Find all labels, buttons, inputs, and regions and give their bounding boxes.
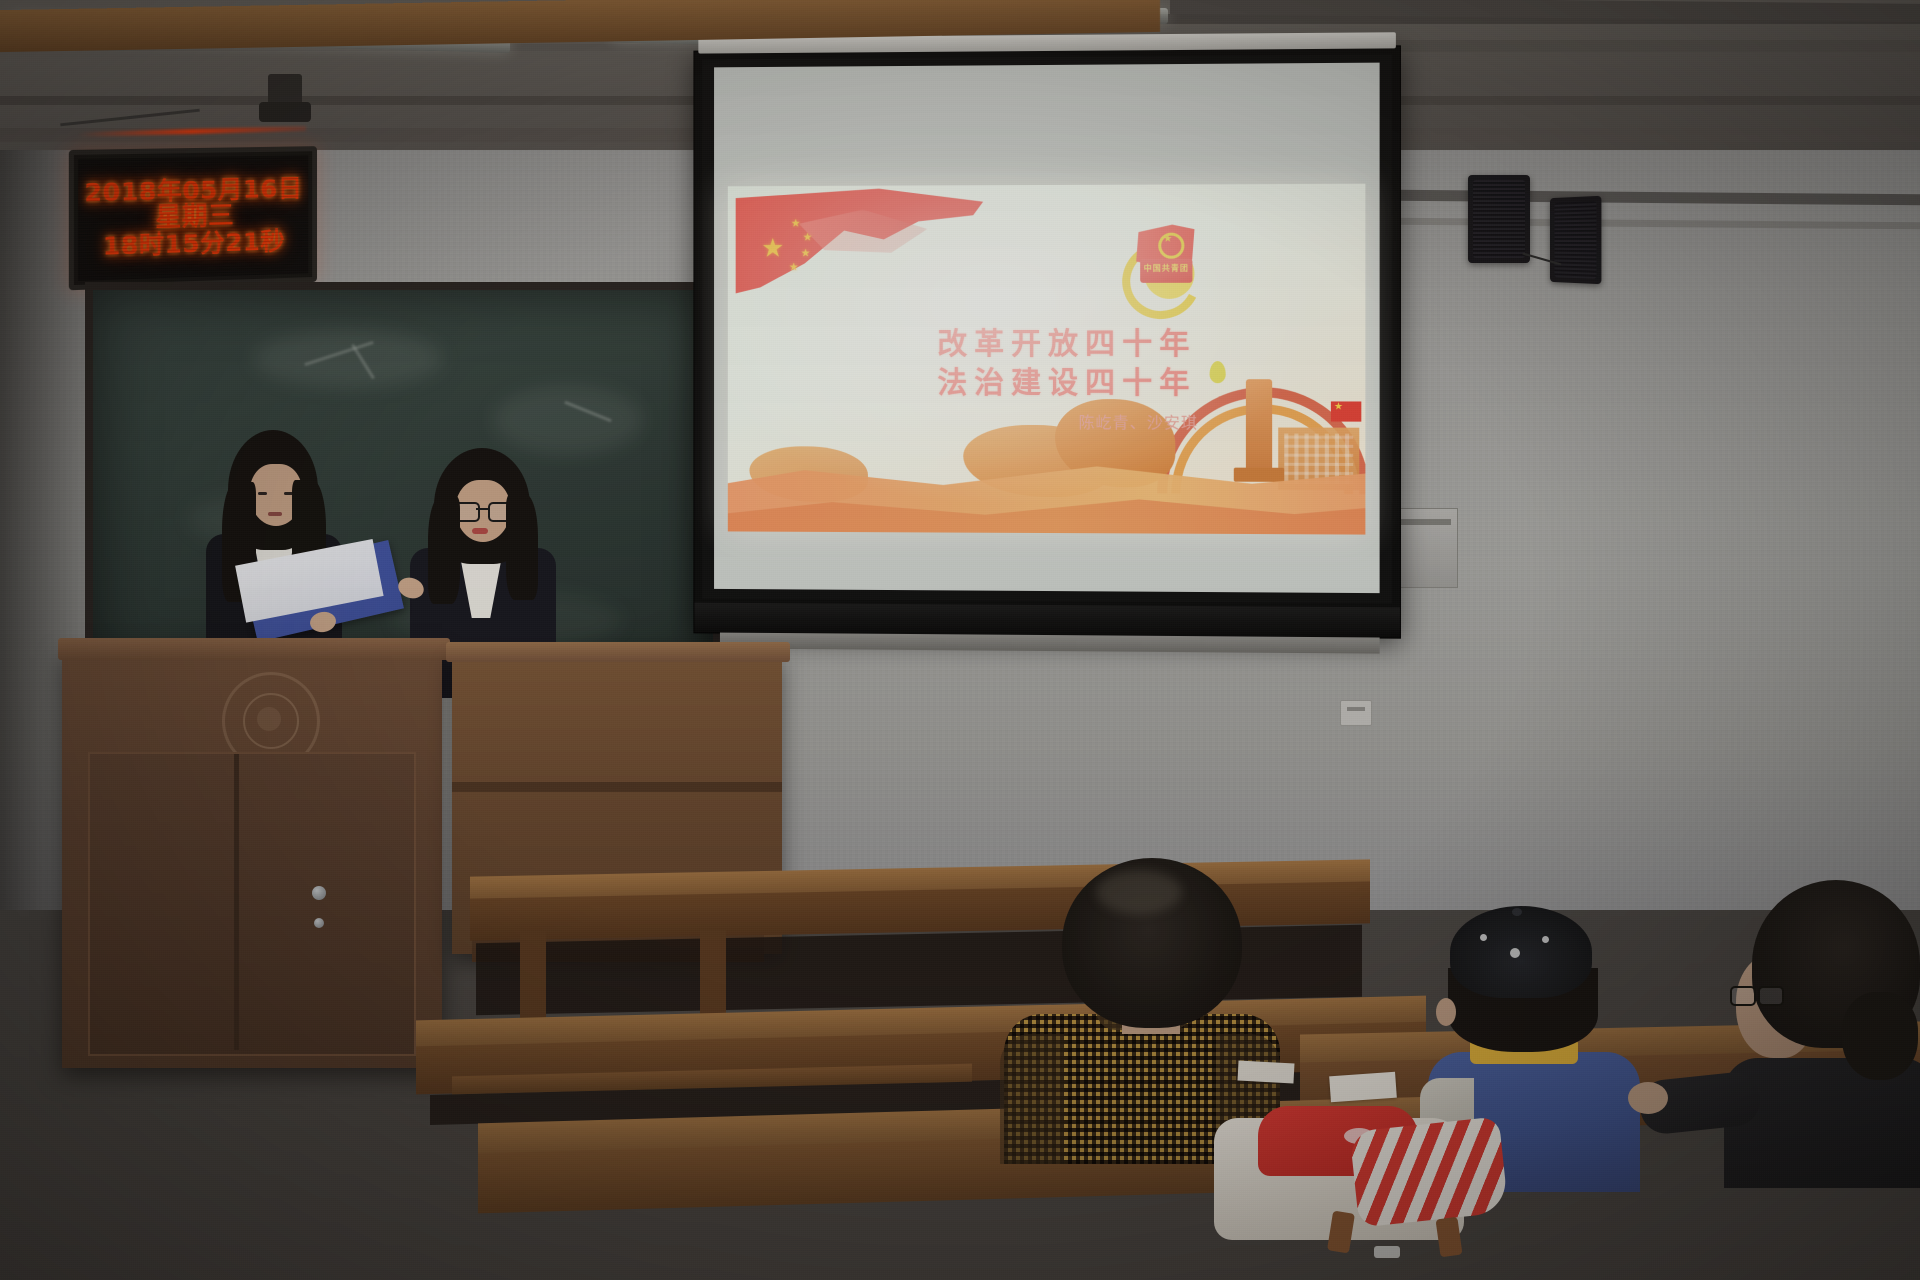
audience-ear: [1436, 998, 1456, 1026]
cap-eyelet: [1510, 948, 1520, 958]
flag-star-small: ★: [801, 248, 811, 259]
led-display: 2018年05月16日 星期三 18时15分21秒: [78, 155, 308, 281]
wall-speaker: [1468, 175, 1530, 263]
lectern-edge: [452, 782, 782, 792]
flag-star-small: ★: [803, 232, 813, 243]
slide-title-line-1: 改革开放四十年: [937, 325, 1359, 364]
chalk-smudge: [493, 385, 643, 455]
speaker-grill: [1555, 201, 1597, 279]
led-clock-sign: 2018年05月16日 星期三 18时15分21秒: [69, 146, 317, 290]
emblem-band: 中国共青团: [1140, 259, 1192, 283]
jacket-shoulder: [1000, 1034, 1064, 1164]
cap-eyelet: [1542, 936, 1549, 943]
panel-slot: [1399, 519, 1451, 525]
baseball-cap: [1450, 906, 1592, 998]
presenter-eye: [258, 492, 267, 495]
glasses-icon: [452, 502, 514, 518]
lectern-panel: [88, 752, 416, 1056]
classroom-scene: 2018年05月16日 星期三 18时15分21秒 ★ ★ ★ ★: [0, 0, 1920, 1280]
bag-clip: [1374, 1246, 1400, 1258]
glasses-lens: [1730, 986, 1756, 1006]
flag-star-small: ★: [791, 218, 801, 229]
cap-button: [1512, 908, 1522, 916]
wall-panel-box: [1392, 508, 1458, 588]
projected-slide: ★ ★ ★ ★ ★ 中国共青团: [728, 184, 1366, 535]
emblem-star: [1158, 233, 1184, 259]
emblem-band-text: 中国共青团: [1140, 263, 1192, 274]
glasses-icon: [1730, 986, 1780, 1002]
speaker-grill: [1473, 180, 1525, 258]
wall-speaker: [1550, 196, 1601, 284]
chinese-flag-graphic: ★ ★ ★ ★ ★: [736, 184, 993, 339]
lectern-divider: [234, 754, 239, 1050]
presenter-hair-strand: [428, 496, 460, 604]
ceiling-pipe: [1390, 40, 1920, 52]
lectern-knob[interactable]: [314, 918, 324, 928]
audience-hand: [1628, 1082, 1668, 1114]
slide-title-block: 改革开放四十年 法治建设四十年 陈屹青、沙安琪: [937, 325, 1359, 434]
bag-strap: [1327, 1211, 1355, 1254]
paper-sheet: [1238, 1061, 1295, 1084]
lectern-knob[interactable]: [312, 886, 326, 900]
glasses-lens: [1758, 986, 1784, 1006]
wall-outlet: [1340, 700, 1372, 726]
ceiling-wire: [60, 109, 200, 127]
presenter-mouth: [268, 512, 282, 516]
paper-sheet: [1329, 1072, 1397, 1103]
flag-star-large: ★: [761, 236, 784, 262]
presenter-mouth: [472, 528, 488, 534]
hair-bun: [1842, 992, 1918, 1080]
projection-screen: ★ ★ ★ ★ ★ 中国共青团: [693, 45, 1401, 638]
slide-presenters: 陈屹青、沙安琪: [937, 409, 1359, 434]
led-weekday-text: 星期三: [155, 203, 234, 231]
slide-title-line-2: 法治建设四十年: [937, 364, 1359, 404]
lectern-top: [446, 642, 790, 662]
chalk-smudge: [253, 330, 443, 388]
projector-mount: [268, 74, 302, 120]
youth-league-emblem-icon: 中国共青团: [1120, 223, 1204, 305]
lectern-left: [62, 648, 442, 1068]
lectern-top: [58, 638, 450, 660]
bag-stripes: [1349, 1116, 1508, 1227]
hair-highlight: [1096, 870, 1182, 914]
presenter-hair-strand: [506, 494, 538, 600]
flag-star-small: ★: [789, 262, 799, 273]
led-time-text: 18时15分21秒: [103, 229, 286, 259]
cap-eyelet: [1480, 934, 1487, 941]
striped-bag: [1214, 1106, 1494, 1246]
glasses-bridge: [476, 508, 488, 510]
audience-member-glasses: [1724, 880, 1920, 1180]
